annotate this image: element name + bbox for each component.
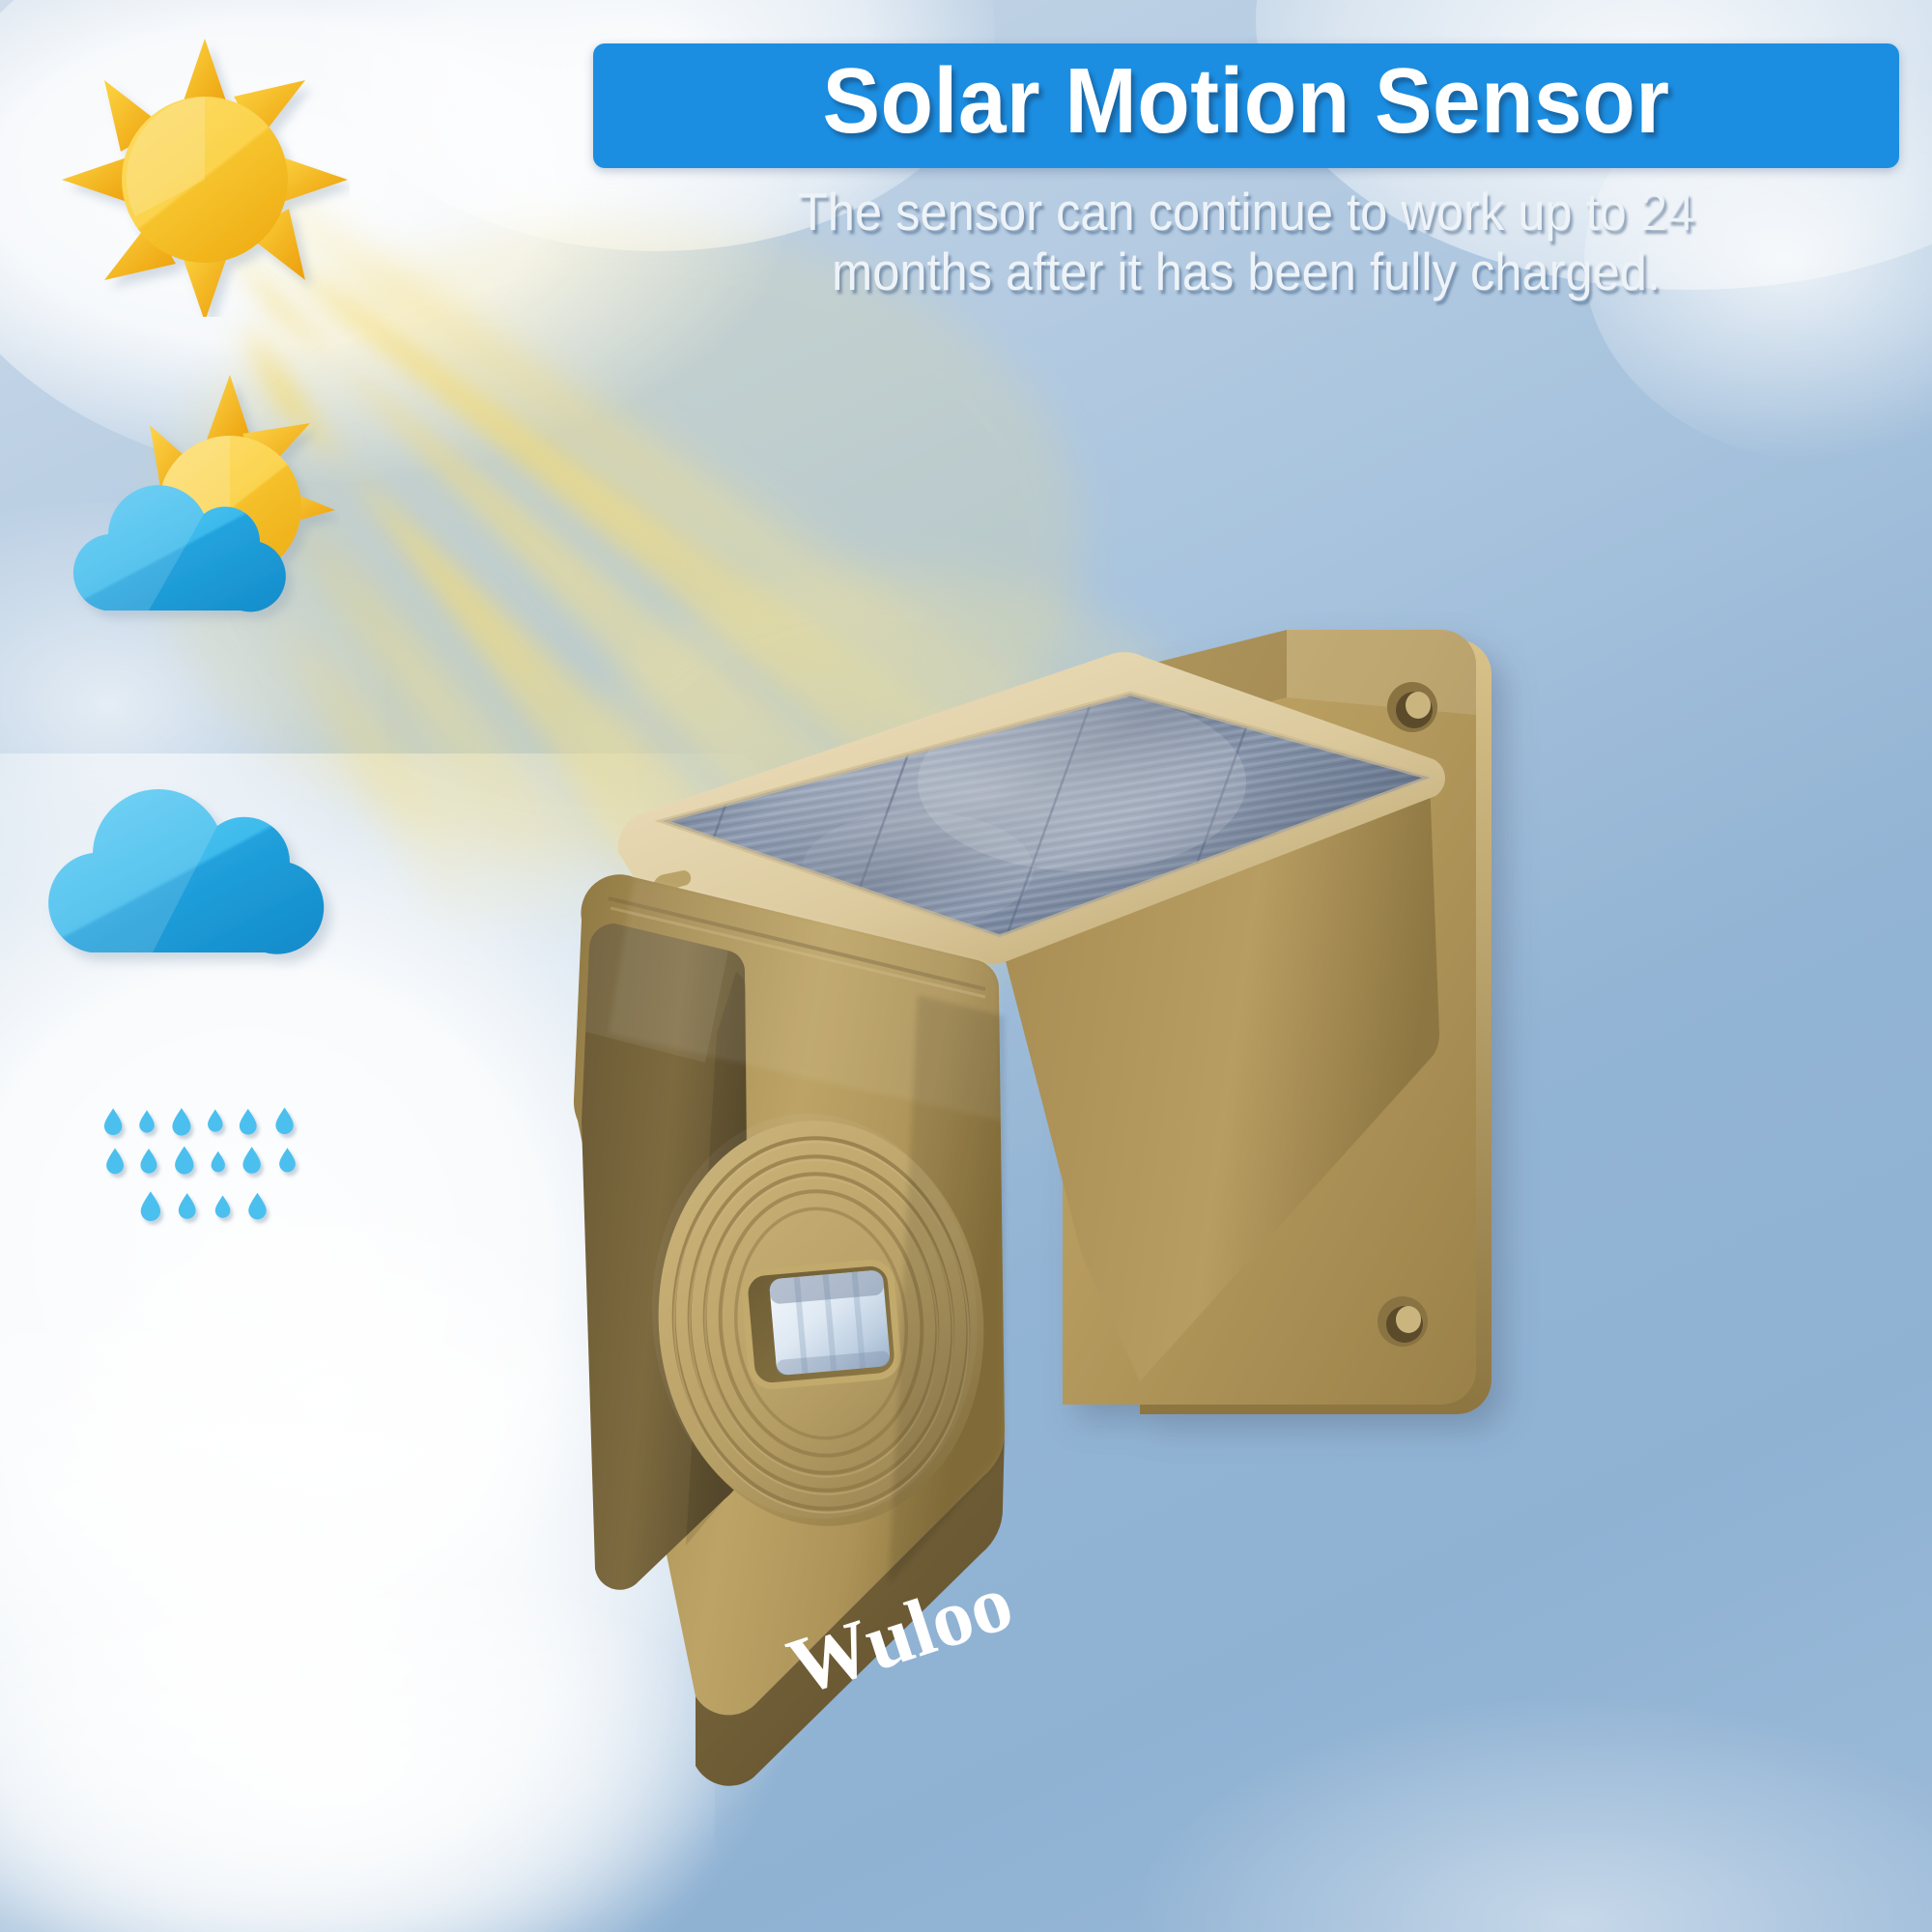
sun-rays-shape — [62, 39, 348, 317]
screw-hole-top — [1387, 682, 1437, 732]
raindrop — [212, 1151, 225, 1173]
product-marketing-image: Solar Motion Sensor The sensor can conti… — [0, 0, 1932, 1932]
raindrop — [179, 1193, 196, 1219]
rain-cloud-shape — [48, 789, 324, 954]
subtitle-line-1: The sensor can continue to work up to 24 — [645, 182, 1847, 242]
rain-cloud-icon — [31, 676, 340, 995]
raindrop — [140, 1149, 156, 1174]
raindrop — [240, 1109, 257, 1135]
raindrop — [248, 1193, 266, 1220]
title-banner: Solar Motion Sensor — [593, 43, 1899, 168]
page-title: Solar Motion Sensor — [663, 53, 1831, 151]
header: Solar Motion Sensor The sensor can conti… — [593, 43, 1899, 302]
raindrops-group — [89, 1101, 330, 1256]
raindrop — [139, 1110, 155, 1132]
subtitle: The sensor can continue to work up to 24… — [645, 182, 1847, 302]
raindrop — [275, 1107, 293, 1134]
raindrop — [215, 1196, 231, 1218]
solar-motion-sensor-device: Wuloo — [464, 580, 1546, 1835]
raindrop — [242, 1147, 260, 1174]
sun-behind-cloud-icon — [41, 357, 340, 647]
raindrop — [175, 1147, 193, 1175]
raindrop — [172, 1108, 190, 1136]
raindrop — [104, 1108, 122, 1135]
screw-hole-bottom — [1378, 1296, 1428, 1347]
raindrop — [208, 1109, 223, 1131]
raindrop — [141, 1191, 160, 1221]
raindrop — [106, 1149, 124, 1175]
raindrop — [279, 1148, 296, 1172]
sun-icon — [60, 37, 350, 317]
subtitle-line-2: months after it has been fully charged. — [645, 241, 1847, 302]
